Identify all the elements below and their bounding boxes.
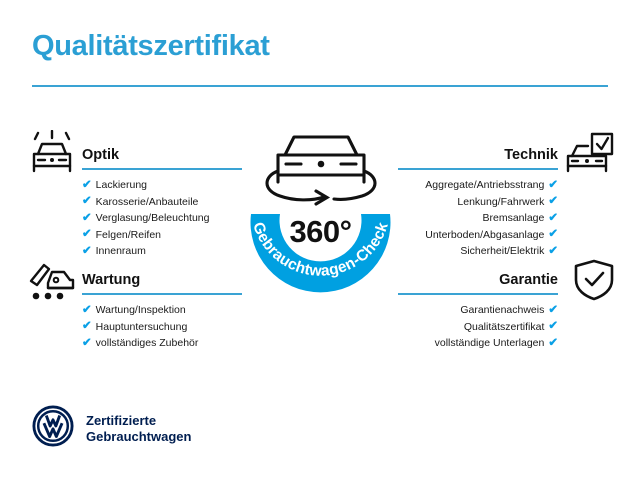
brand-line-1: Zertifizierte xyxy=(86,413,191,429)
check-icon: ✔ xyxy=(548,196,558,208)
list-item-label: Innenraum xyxy=(96,243,146,260)
list-item-label: Bremsanlage xyxy=(482,210,544,227)
volkswagen-logo xyxy=(32,405,74,452)
checklist: ✔ Wartung/Inspektion ✔ Hauptuntersuchung… xyxy=(82,302,242,352)
list-item-label: Lenkung/Fahrwerk xyxy=(457,194,544,211)
section-header: Wartung xyxy=(82,265,242,295)
list-item: vollständige Unterlagen ✔ xyxy=(398,335,558,352)
section-divider xyxy=(398,293,558,295)
check-icon: ✔ xyxy=(82,338,92,350)
check-icon: ✔ xyxy=(82,229,92,241)
section-header: Optik xyxy=(82,140,242,170)
check-icon: ✔ xyxy=(548,213,558,225)
header-divider xyxy=(32,85,608,87)
section-header: Garantie xyxy=(398,265,558,295)
list-item: Garantienachweis ✔ xyxy=(398,302,558,319)
section-title: Optik xyxy=(82,147,119,163)
check-icon: ✔ xyxy=(82,321,92,333)
list-item-label: vollständige Unterlagen xyxy=(435,335,545,352)
check-icon: ✔ xyxy=(548,229,558,241)
section-header: Technik xyxy=(398,140,558,170)
list-item: ✔ Karosserie/Anbauteile xyxy=(82,194,242,211)
list-item: ✔ Hauptuntersuchung xyxy=(82,319,242,336)
section-title: Wartung xyxy=(82,272,140,288)
check-icon: ✔ xyxy=(548,305,558,317)
list-item: ✔ Wartung/Inspektion xyxy=(82,302,242,319)
page-title: Qualitätszertifikat xyxy=(32,30,270,63)
list-item-label: Karosserie/Anbauteile xyxy=(96,194,199,211)
section-optik: Optik ✔ Lackierung ✔ Karosserie/Anbautei… xyxy=(82,140,242,260)
list-item: ✔ Innenraum xyxy=(82,243,242,260)
section-divider xyxy=(82,293,242,295)
list-item-label: Felgen/Reifen xyxy=(96,227,161,244)
brand-line-2: Gebrauchtwagen xyxy=(86,429,191,445)
list-item-label: Aggregate/Antriebsstrang xyxy=(425,177,544,194)
check-icon: ✔ xyxy=(548,180,558,192)
checklist: Aggregate/Antriebsstrang ✔ Lenkung/Fahrw… xyxy=(398,177,558,260)
wrench-car-service-icon xyxy=(26,257,78,303)
list-item-label: Sicherheit/Elektrik xyxy=(460,243,544,260)
list-item: Bremsanlage ✔ xyxy=(398,210,558,227)
list-item: Lenkung/Fahrwerk ✔ xyxy=(398,194,558,211)
checklist: ✔ Lackierung ✔ Karosserie/Anbauteile ✔ V… xyxy=(82,177,242,260)
list-item: Qualitätszertifikat ✔ xyxy=(398,319,558,336)
certificate-page: Qualitätszertifikat xyxy=(0,0,640,480)
section-title: Garantie xyxy=(499,272,558,288)
list-item-label: Hauptuntersuchung xyxy=(96,319,188,336)
list-item: ✔ vollständiges Zubehör xyxy=(82,335,242,352)
check-icon: ✔ xyxy=(548,321,558,333)
list-item-label: Wartung/Inspektion xyxy=(96,302,186,319)
brand-name: Zertifizierte Gebrauchtwagen xyxy=(86,413,191,445)
list-item-label: Garantienachweis xyxy=(460,302,544,319)
check-icon: ✔ xyxy=(82,196,92,208)
list-item: ✔ Felgen/Reifen xyxy=(82,227,242,244)
section-divider xyxy=(82,168,242,170)
list-item-label: vollständiges Zubehör xyxy=(96,335,199,352)
check-icon: ✔ xyxy=(82,246,92,258)
checklist: Garantienachweis ✔ Qualitätszertifikat ✔… xyxy=(398,302,558,352)
check-icon: ✔ xyxy=(548,338,558,350)
shield-check-icon xyxy=(568,257,620,303)
list-item-label: Qualitätszertifikat xyxy=(464,319,545,336)
section-wartung: Wartung ✔ Wartung/Inspektion ✔ Hauptunte… xyxy=(82,265,242,352)
car-headlights-icon xyxy=(26,130,78,176)
list-item: ✔ Lackierung xyxy=(82,177,242,194)
car-rotation-icon xyxy=(267,137,375,204)
list-item: Unterboden/Abgasanlage ✔ xyxy=(398,227,558,244)
list-item: Aggregate/Antriebsstrang ✔ xyxy=(398,177,558,194)
section-title: Technik xyxy=(504,147,558,163)
section-garantie: Garantie Garantienachweis ✔ Qualitätszer… xyxy=(398,265,558,352)
check-icon: ✔ xyxy=(548,246,558,258)
badge-degrees: 360° xyxy=(228,214,413,250)
list-item: Sicherheit/Elektrik ✔ xyxy=(398,243,558,260)
list-item-label: Lackierung xyxy=(96,177,147,194)
car-checkbox-icon xyxy=(564,130,616,176)
list-item-label: Verglasung/Beleuchtung xyxy=(96,210,210,227)
badge-360-gebrauchtwagen-check: Gebrauchtwagen-Check xyxy=(228,118,413,303)
check-icon: ✔ xyxy=(82,213,92,225)
check-icon: ✔ xyxy=(82,180,92,192)
list-item-label: Unterboden/Abgasanlage xyxy=(425,227,544,244)
list-item: ✔ Verglasung/Beleuchtung xyxy=(82,210,242,227)
section-divider xyxy=(398,168,558,170)
brand-footer: Zertifizierte Gebrauchtwagen xyxy=(32,405,191,452)
section-technik: Technik Aggregate/Antriebsstrang ✔ Lenku… xyxy=(398,140,558,260)
check-icon: ✔ xyxy=(82,305,92,317)
